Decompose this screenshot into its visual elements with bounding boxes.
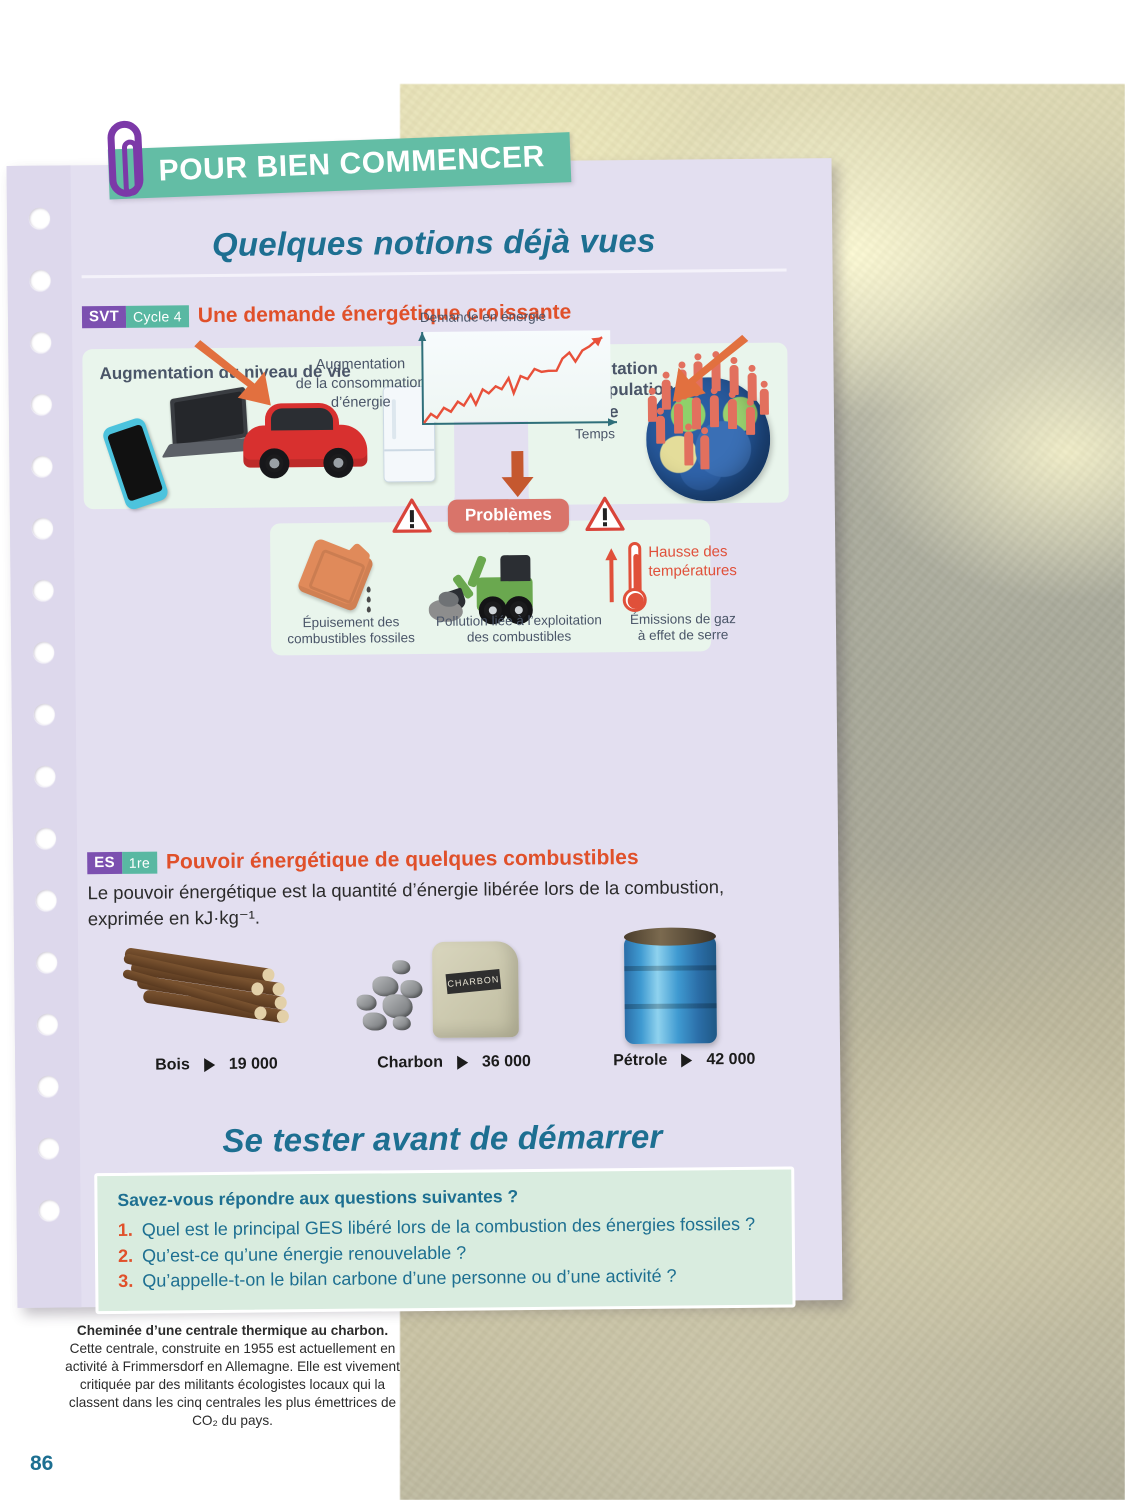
chart-xlabel: Temps: [575, 426, 615, 441]
arrow-right-icon: [204, 1058, 215, 1072]
fuel-item: Bois 19 000: [155, 1055, 278, 1074]
photo-caption-body: Cette centrale, construite en 1955 est a…: [65, 1341, 400, 1428]
smartphone-icon: [101, 416, 170, 512]
binder-hole: [29, 208, 50, 229]
paperclip-icon: [107, 120, 144, 197]
problem-caption-3: Émissions de gaz à effet de serre: [619, 611, 747, 645]
oil-barrel-icon: [624, 935, 717, 1044]
title-divider: [82, 269, 787, 279]
problem-caption-1: Épuisement des combustibles fossiles: [283, 614, 419, 648]
binder-hole: [36, 952, 57, 973]
temperature-rise-label: Hausse des températures: [648, 543, 758, 582]
binder-hole: [38, 1200, 59, 1221]
quiz-heading: Savez-vous répondre aux questions suivan…: [117, 1184, 771, 1211]
binder-hole: [33, 642, 54, 663]
section-title-se-tester: Se tester avant de démarrer: [90, 1116, 795, 1161]
consumption-label: Augmentation de la consommation d’énergi…: [290, 355, 431, 413]
fuel-item: Pétrole 42 000: [613, 1051, 755, 1070]
binder-holes-strip: [7, 165, 82, 1308]
es-tagline-title: Pouvoir énergétique de quelques combusti…: [166, 846, 639, 875]
binder-hole: [30, 270, 51, 291]
svt-badge-level: Cycle 4: [126, 305, 189, 328]
svt-badge-subject: SVT: [82, 306, 126, 328]
quiz-question-number: 1.: [118, 1218, 133, 1244]
temperature-up-arrow-icon: [604, 548, 619, 604]
energy-power-intro: Le pouvoir énergétique est la quantité d…: [87, 874, 727, 933]
fuel-value: 42 000: [706, 1051, 755, 1069]
binder-hole: [31, 456, 52, 477]
binder-hole: [37, 1076, 58, 1097]
page-root: POUR BIEN COMMENCER Quelques notions déj…: [0, 0, 1125, 1500]
fuel-name: Charbon: [377, 1054, 443, 1073]
binder-hole: [35, 890, 56, 911]
notebook-page: POUR BIEN COMMENCER Quelques notions déj…: [7, 158, 843, 1308]
problem-caption-2: Pollution liée à l’exploitation des comb…: [421, 612, 617, 647]
energy-demand-chart: Demande en énergie Temps: [412, 330, 623, 452]
quiz-question-text: Qu’est-ce qu’une énergie renouvelable ?: [142, 1240, 466, 1269]
quiz-question-text: Qu’appelle-t-on le bilan carbone d’une p…: [142, 1264, 677, 1295]
fuel-name: Bois: [155, 1056, 190, 1074]
fuels-illustrations: CHARBON: [88, 929, 789, 1056]
binder-hole: [35, 828, 56, 849]
quiz-question-number: 2.: [118, 1243, 133, 1269]
es-badge-level: 1re: [122, 852, 157, 874]
page-number: 86: [30, 1452, 53, 1476]
es-badge-subject: ES: [87, 852, 122, 874]
binder-hole: [38, 1138, 59, 1159]
arrow-right-to-center: [662, 327, 783, 448]
coal-sack-icon: CHARBON: [348, 935, 549, 1047]
binder-hole: [30, 332, 51, 353]
arrow-right-icon: [457, 1056, 468, 1070]
svt-badge: SVTCycle 4: [82, 305, 189, 328]
quiz-box: Savez-vous répondre aux questions suivan…: [94, 1166, 795, 1313]
binder-hole: [33, 580, 54, 601]
binder-hole: [32, 518, 53, 539]
fuel-item: Charbon 36 000: [377, 1053, 531, 1072]
banner-label: POUR BIEN COMMENCER: [108, 132, 572, 199]
sack-label: CHARBON: [446, 969, 502, 994]
binder-hole: [31, 394, 52, 415]
quiz-question[interactable]: 3. Qu’appelle-t-on le bilan carbone d’un…: [118, 1263, 772, 1295]
section-banner: POUR BIEN COMMENCER: [108, 139, 571, 193]
es-tagline: ES1re Pouvoir énergétique de quelques co…: [87, 845, 727, 875]
photo-caption-title: Cheminée d’une centrale thermique au cha…: [77, 1323, 388, 1338]
fuel-value: 36 000: [482, 1053, 531, 1071]
section-title-notions: Quelques notions déjà vues: [81, 221, 786, 266]
photo-caption: Cheminée d’une centrale thermique au cha…: [60, 1322, 405, 1430]
quiz-question-number: 3.: [118, 1269, 133, 1295]
chart-ylabel: Demande en énergie: [420, 309, 546, 325]
fuel-name: Pétrole: [613, 1052, 667, 1071]
warning-triangle-icon: [585, 496, 625, 532]
fuel-value: 19 000: [229, 1055, 278, 1073]
warning-triangle-icon: [392, 498, 432, 534]
arrow-down-to-problems: [497, 451, 537, 499]
es-badge: ES1re: [87, 852, 157, 875]
excavator-icon: [454, 549, 510, 584]
arrow-right-icon: [681, 1053, 692, 1067]
binder-hole: [34, 766, 55, 787]
problems-pill: Problèmes: [448, 498, 569, 532]
binder-hole: [34, 704, 55, 725]
jerrycan-icon: [304, 547, 367, 604]
logs-icon: [120, 941, 311, 1038]
binder-hole: [37, 1014, 58, 1035]
